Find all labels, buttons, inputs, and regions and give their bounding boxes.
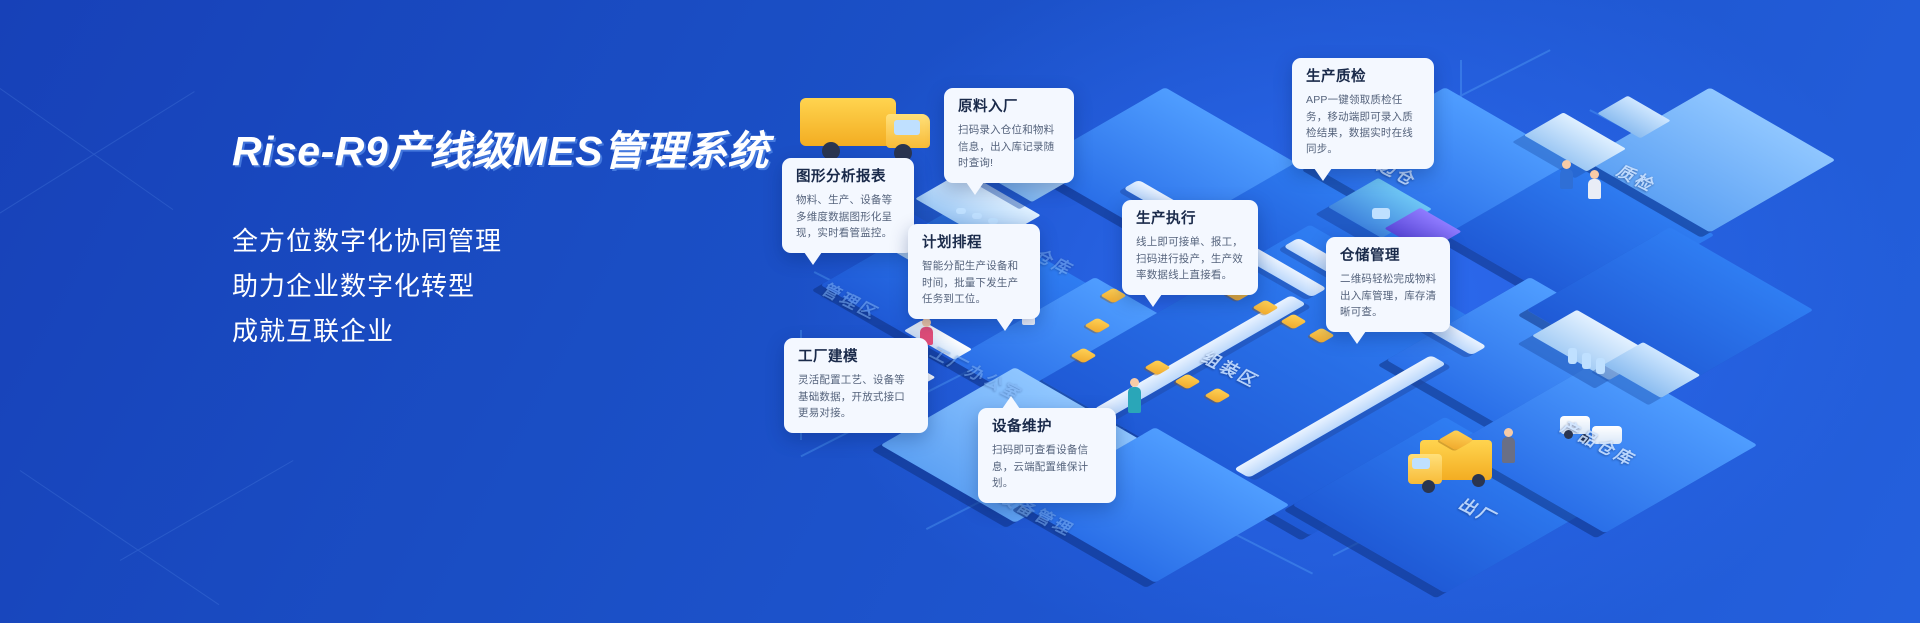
- window-glass: [1596, 358, 1605, 374]
- truck-wheel: [1472, 474, 1485, 487]
- card-title: 生产质检: [1306, 69, 1421, 86]
- card-title: 设备维护: [992, 419, 1103, 436]
- card-title: 计划排程: [922, 235, 1027, 252]
- mes-marketing-banner: Rise-R9产线级MES管理系统 全方位数字化协同管理 助力企业数字化转型 成…: [0, 0, 1920, 623]
- hero-subtitle-line-2: 助力企业数字化转型: [232, 264, 772, 309]
- truck-wheel: [1422, 480, 1435, 493]
- callout-card-graph-analysis-report[interactable]: 图形分析报表 物料、生产、设备等多维度数据图形化呈现，实时看管监控。: [782, 158, 914, 253]
- hero-title: Rise-R9产线级MES管理系统: [232, 128, 772, 175]
- machine-display: [1372, 208, 1390, 219]
- card-title: 生产执行: [1136, 211, 1245, 228]
- hero-subtitle-list: 全方位数字化协同管理 助力企业数字化转型 成就互联企业: [232, 219, 772, 353]
- hero-subtitle-line-3: 成就互联企业: [232, 309, 772, 354]
- card-body: 智能分配生产设备和时间，批量下发生产任务到工位。: [922, 258, 1027, 307]
- van-windshield: [894, 120, 920, 135]
- card-title: 原料入厂: [958, 99, 1061, 116]
- card-title: 仓储管理: [1340, 248, 1437, 265]
- callout-card-factory-modeling[interactable]: 工厂建模 灵活配置工艺、设备等基础数据，开放式接口更易对接。: [784, 338, 928, 433]
- truck-windshield: [1412, 458, 1430, 469]
- card-body: 扫码录入仓位和物料信息，出入库记录随时查询!: [958, 122, 1061, 171]
- card-body: 二维码轻松完成物料出入库管理，库存清晰可查。: [1340, 271, 1437, 320]
- callout-card-plan-scheduling[interactable]: 计划排程 智能分配生产设备和时间，批量下发生产任务到工位。: [908, 224, 1040, 319]
- card-body: 物料、生产、设备等多维度数据图形化呈现，实时看管监控。: [796, 192, 901, 241]
- window-glass: [1582, 353, 1591, 369]
- window-glass: [956, 208, 966, 214]
- card-title: 图形分析报表: [796, 169, 901, 186]
- callout-card-raw-material-inbound[interactable]: 原料入厂 扫码录入仓位和物料信息，出入库记录随时查询!: [944, 88, 1074, 183]
- window-glass: [972, 213, 982, 219]
- window-glass: [1568, 348, 1577, 364]
- card-title: 工厂建模: [798, 349, 915, 366]
- card-body: APP一键领取质检任务，移动端即可录入质检结果，数据实时在线同步。: [1306, 92, 1421, 157]
- inbound-van-body: [800, 98, 896, 146]
- card-body: 灵活配置工艺、设备等基础数据，开放式接口更易对接。: [798, 372, 915, 421]
- callout-card-equipment-maintenance[interactable]: 设备维护 扫码即可查看设备信息，云端配置维保计划。: [978, 408, 1116, 503]
- card-body: 线上即可接单、报工，扫码进行投产，生产效率数据线上直接看。: [1136, 234, 1245, 283]
- callout-card-warehouse-management[interactable]: 仓储管理 二维码轻松完成物料出入库管理，库存清晰可查。: [1326, 237, 1450, 332]
- hero-copy: Rise-R9产线级MES管理系统 全方位数字化协同管理 助力企业数字化转型 成…: [232, 128, 772, 353]
- callout-card-production-execution[interactable]: 生产执行 线上即可接单、报工，扫码进行投产，生产效率数据线上直接看。: [1122, 200, 1258, 295]
- callout-card-production-quality-inspection[interactable]: 生产质检 APP一键领取质检任务，移动端即可录入质检结果，数据实时在线同步。: [1292, 58, 1434, 169]
- card-body: 扫码即可查看设备信息，云端配置维保计划。: [992, 442, 1103, 491]
- hero-subtitle-line-1: 全方位数字化协同管理: [232, 219, 772, 264]
